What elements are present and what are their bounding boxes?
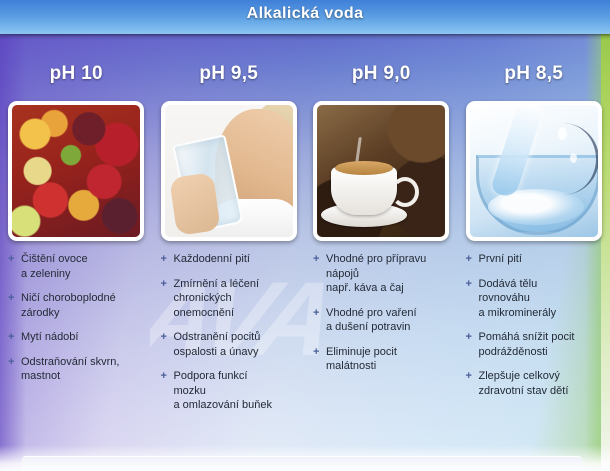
ph-label-2: pH 9,5: [199, 63, 258, 85]
benefit-item-label: Pomáhá snížit pocitpodrážděnosti: [479, 331, 575, 358]
bottom-card-edge: [22, 456, 582, 471]
fruits-and-vegetables-photo: [12, 105, 140, 237]
benefit-item: +Odstraňování skvrn,mastnot: [8, 355, 147, 384]
ph-cell-4: pH 8,5: [458, 55, 610, 93]
benefit-list-1: +Čištění ovocea zeleniny+Ničí choroboplo…: [8, 252, 147, 384]
photo-cell-2: [153, 101, 306, 243]
plus-icon: +: [313, 345, 319, 360]
photo-row: [0, 101, 610, 243]
banner-shadow: [0, 34, 610, 40]
benefit-column-3: +Vhodné pro přípravunápojůnapř. káva a č…: [305, 252, 458, 452]
benefit-item-label: Ničí choroboplodnézárodky: [21, 292, 116, 319]
ph-cell-3: pH 9,0: [305, 55, 458, 93]
benefit-item: +Čištění ovocea zeleniny: [8, 252, 147, 281]
plus-icon: +: [161, 330, 167, 345]
ph-label-3: pH 9,0: [352, 63, 411, 85]
crema-shape: [335, 161, 393, 175]
plus-icon: +: [8, 291, 14, 306]
benefit-item: +Vhodné pro přípravunápojůnapř. káva a č…: [313, 252, 452, 296]
water-drop-icon: [570, 153, 577, 163]
title-banner: Alkalická voda: [0, 0, 610, 34]
plus-icon: +: [8, 330, 14, 345]
benefit-item: +Každodenní pití: [161, 252, 300, 267]
alkaline-water-infographic: AVA Alkalická voda pH 10 pH 9,5 pH 9,0 p…: [0, 0, 610, 471]
benefit-item: +Vhodné pro vařenía dušení potravin: [313, 306, 452, 335]
benefit-item: +První pití: [466, 252, 605, 267]
benefit-item-label: Dodává tělurovnováhua mikrominerály: [479, 278, 557, 319]
ph-label-4: pH 8,5: [504, 63, 563, 85]
benefit-item-label: Podpora funkcímozkua omlazování buňek: [174, 370, 272, 411]
photo-frame-3: [313, 101, 449, 241]
benefit-item-label: První pití: [479, 253, 522, 265]
benefit-item: +Ničí choroboplodnézárodky: [8, 291, 147, 320]
photo-frame-4: [466, 101, 602, 241]
plus-icon: +: [161, 277, 167, 292]
benefit-list-4: +První pití+Dodává tělurovnováhua mikrom…: [466, 252, 605, 398]
benefit-item-label: Vhodné pro přípravunápojůnapř. káva a ča…: [326, 253, 426, 294]
plus-icon: +: [466, 330, 472, 345]
coffee-cup-with-beans-photo: [317, 105, 445, 237]
plus-icon: +: [8, 355, 14, 370]
plus-icon: +: [466, 277, 472, 292]
photo-cell-3: [305, 101, 458, 243]
benefit-list-3: +Vhodné pro přípravunápojůnapř. káva a č…: [313, 252, 452, 374]
benefit-item-label: Odstranění pocitůospalosti a únavy: [174, 331, 261, 358]
plus-icon: +: [313, 306, 319, 321]
water-drop-icon: [558, 127, 567, 140]
photo-cell-4: [458, 101, 610, 243]
benefit-item-label: Každodenní pití: [174, 253, 250, 265]
benefit-item: +Zmírnění a léčeníchronickýchonemocnění: [161, 277, 300, 321]
benefit-item-label: Eliminuje pocitmalátnosti: [326, 346, 397, 373]
benefit-column-4: +První pití+Dodává tělurovnováhua mikrom…: [458, 252, 610, 452]
benefit-item: +Eliminuje pocitmalátnosti: [313, 345, 452, 374]
benefit-column-1: +Čištění ovocea zeleniny+Ničí choroboplo…: [0, 252, 153, 452]
benefit-item: +Dodává tělurovnováhua mikrominerály: [466, 277, 605, 321]
benefit-item: +Podpora funkcímozkua omlazování buňek: [161, 369, 300, 413]
woman-drinking-water-photo: [165, 105, 293, 237]
benefit-column-2: +Každodenní pití+Zmírnění a léčeníchroni…: [153, 252, 306, 452]
benefit-item-label: Mytí nádobí: [21, 331, 78, 343]
steam-shape: [355, 137, 362, 163]
hand-shape: [169, 172, 221, 236]
photo-cell-1: [0, 101, 153, 243]
ph-cell-2: pH 9,5: [153, 55, 306, 93]
photo-frame-2: [161, 101, 297, 241]
benefit-item: +Zlepšuje celkovýzdravotní stav dětí: [466, 369, 605, 398]
benefit-item: +Odstranění pocitůospalosti a únavy: [161, 330, 300, 359]
benefit-item-label: Vhodné pro vařenía dušení potravin: [326, 307, 417, 334]
benefit-columns: +Čištění ovocea zeleniny+Ničí choroboplo…: [0, 252, 610, 452]
cup-handle-shape: [391, 177, 419, 207]
plus-icon: +: [8, 252, 14, 267]
page-title: Alkalická voda: [0, 5, 610, 23]
benefit-item: +Pomáhá snížit pocitpodrážděnosti: [466, 330, 605, 359]
plus-icon: +: [161, 369, 167, 384]
ph-label-row: pH 10 pH 9,5 pH 9,0 pH 8,5: [0, 55, 610, 93]
water-pouring-into-glass-photo: [470, 105, 598, 237]
ph-cell-1: pH 10: [0, 55, 153, 93]
benefit-item: +Mytí nádobí: [8, 330, 147, 345]
benefit-item-label: Zmírnění a léčeníchronickýchonemocnění: [174, 278, 260, 319]
benefit-item-label: Odstraňování skvrn,mastnot: [21, 356, 119, 383]
ph-label-1: pH 10: [50, 63, 103, 85]
plus-icon: +: [466, 369, 472, 384]
benefit-item-label: Zlepšuje celkovýzdravotní stav dětí: [479, 370, 569, 397]
photo-frame-1: [8, 101, 144, 241]
benefit-item-label: Čištění ovocea zeleniny: [21, 253, 88, 280]
plus-icon: +: [466, 252, 472, 267]
plus-icon: +: [161, 252, 167, 267]
benefit-list-2: +Každodenní pití+Zmírnění a léčeníchroni…: [161, 252, 300, 413]
plus-icon: +: [313, 252, 319, 267]
